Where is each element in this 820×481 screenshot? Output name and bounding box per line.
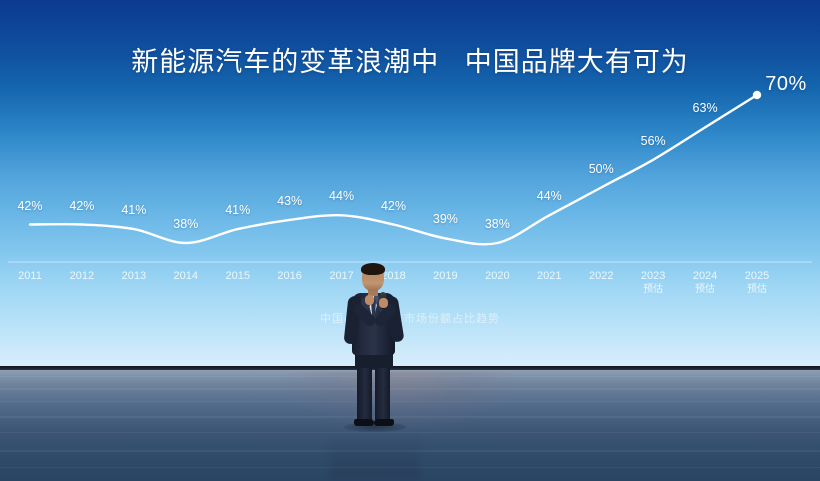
- x-axis-label-year: 2012: [70, 270, 94, 282]
- value-label-2019: 39%: [433, 212, 458, 226]
- presenter-reflection: [330, 434, 420, 478]
- endpoint-dot: [753, 91, 761, 99]
- x-axis-label-2014: 2014: [174, 270, 198, 284]
- presenter-shoe-right: [374, 419, 394, 426]
- x-axis-label-2024: 2024预估: [693, 270, 717, 296]
- x-axis-label-2011: 2011: [18, 270, 42, 284]
- value-label-2024: 63%: [693, 101, 718, 115]
- presenter-hair: [361, 263, 385, 275]
- value-label-2012: 42%: [69, 199, 94, 213]
- value-label-2011: 42%: [17, 199, 42, 213]
- x-axis-label-year: 2016: [277, 270, 301, 282]
- x-axis-label-year: 2011: [18, 270, 42, 282]
- x-axis-label-estimate-tag: 预估: [745, 284, 769, 297]
- presenter-leg-right: [375, 364, 390, 422]
- x-axis-label-year: 2024: [693, 270, 717, 282]
- x-axis-label-estimate-tag: 预估: [641, 284, 665, 297]
- value-label-2014: 38%: [173, 217, 198, 231]
- value-label-2023: 56%: [641, 134, 666, 148]
- x-axis-label-2019: 2019: [433, 270, 457, 284]
- presenter-shoe-left: [354, 419, 374, 426]
- presenter-hand-right: [379, 298, 388, 308]
- x-axis-label-2013: 2013: [122, 270, 146, 284]
- x-axis-label-year: 2025: [745, 270, 769, 282]
- x-axis-label-year: 2020: [485, 270, 509, 282]
- x-axis-label-2015: 2015: [225, 270, 249, 284]
- x-axis-label-year: 2023: [641, 270, 665, 282]
- x-axis-label-year: 2013: [122, 270, 146, 282]
- value-label-2018: 42%: [381, 199, 406, 213]
- share-trend-line: [30, 95, 757, 244]
- presentation-photo: 42%42%41%38%41%43%44%42%39%38%44%50%56%6…: [0, 0, 820, 481]
- value-label-2021: 44%: [537, 189, 562, 203]
- presenter-leg-left: [357, 364, 372, 422]
- value-label-2016: 43%: [277, 194, 302, 208]
- presenter: [330, 262, 420, 437]
- x-axis-label-2012: 2012: [70, 270, 94, 284]
- x-axis-label-year: 2015: [225, 270, 249, 282]
- value-label-2020: 38%: [485, 217, 510, 231]
- value-label-2015: 41%: [225, 203, 250, 217]
- x-axis-label-2022: 2022: [589, 270, 613, 284]
- x-axis-label-2016: 2016: [277, 270, 301, 284]
- x-axis-label-2020: 2020: [485, 270, 509, 284]
- slide-title: 新能源汽车的变革浪潮中 中国品牌大有可为: [0, 40, 820, 79]
- x-axis-label-year: 2019: [433, 270, 457, 282]
- x-axis-label-estimate-tag: 预估: [693, 284, 717, 297]
- x-axis-label-2023: 2023预估: [641, 270, 665, 296]
- x-axis-label-2021: 2021: [537, 270, 561, 284]
- value-label-2017: 44%: [329, 189, 354, 203]
- value-label-2013: 41%: [121, 203, 146, 217]
- x-axis-label-year: 2022: [589, 270, 613, 282]
- presenter-hand-left: [365, 295, 374, 305]
- x-axis-label-year: 2021: [537, 270, 561, 282]
- value-label-2022: 50%: [589, 162, 614, 176]
- x-axis-label-2025: 2025预估: [745, 270, 769, 296]
- x-axis-label-year: 2014: [174, 270, 198, 282]
